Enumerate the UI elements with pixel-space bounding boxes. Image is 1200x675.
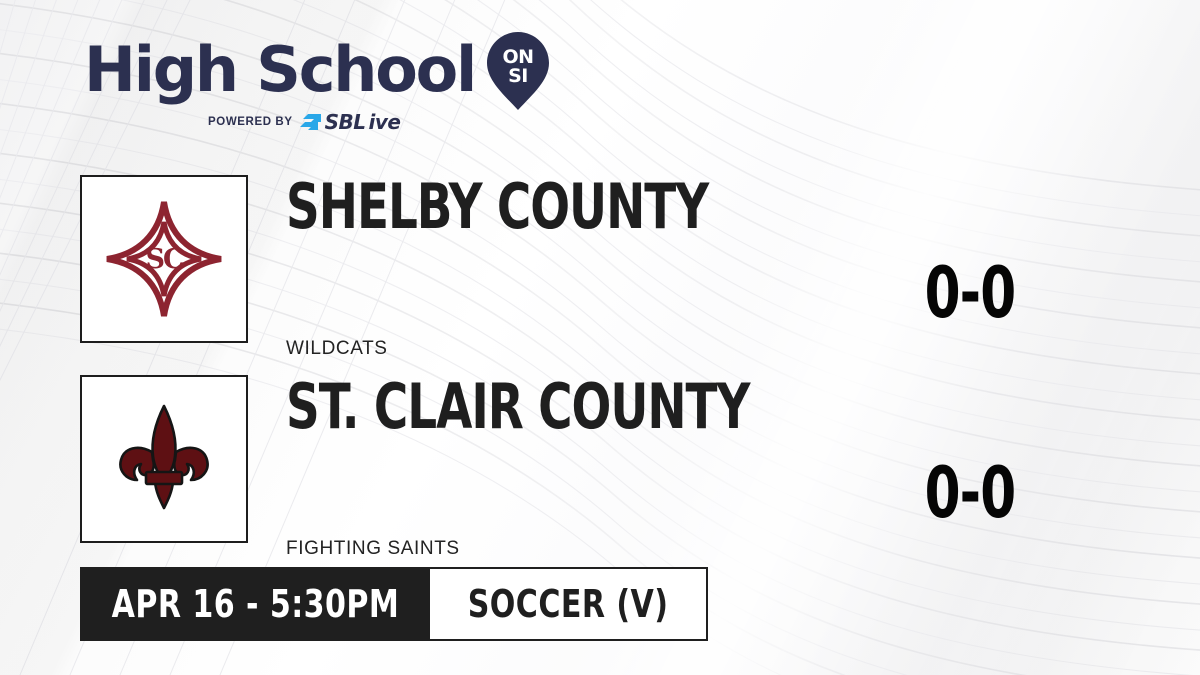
game-datetime-block: APR 16 - 5:30PM: [80, 567, 430, 641]
scoreboard-graphic: High School ON SI POWERED BY SBLive: [0, 0, 1200, 675]
game-datetime-text: APR 16 - 5:30PM: [111, 582, 399, 626]
game-sport-block: SOCCER (V): [430, 567, 708, 641]
game-sport-text: SOCCER (V): [468, 582, 669, 626]
brand-lockup: High School ON SI POWERED BY SBLive: [84, 34, 514, 134]
sblive-wordmark-bold: SBL: [325, 112, 366, 132]
home-team-name: ST. CLAIR COUNTY: [286, 376, 749, 438]
svg-text:SC: SC: [146, 244, 184, 275]
on-si-pin-icon: ON SI: [487, 32, 549, 110]
brand-wordmark-row: High School ON SI: [84, 34, 514, 106]
brand-wordmark-text: High School: [84, 39, 475, 101]
home-team-mascot: FIGHTING SAINTS: [286, 538, 460, 560]
sblive-logo: SBLive: [300, 112, 401, 132]
shelby-county-star-sc-icon: SC: [101, 196, 227, 322]
powered-by-row: POWERED BY SBLive: [208, 112, 514, 132]
fleur-de-lis-icon: [108, 400, 220, 518]
svg-text:SI: SI: [508, 65, 528, 87]
away-team-score: 0-0: [888, 258, 1052, 328]
away-team-logo-box: SC: [80, 175, 248, 343]
away-team-name: SHELBY COUNTY: [286, 176, 708, 238]
game-info-bar: APR 16 - 5:30PM SOCCER (V): [80, 567, 708, 641]
powered-by-label: POWERED BY: [208, 116, 293, 128]
away-team-mascot: WILDCATS: [286, 338, 388, 360]
home-team-logo-box: [80, 375, 248, 543]
sblive-s-mark-icon: [300, 113, 322, 131]
home-team-score: 0-0: [888, 458, 1052, 528]
sblive-wordmark-light: ive: [369, 112, 401, 132]
